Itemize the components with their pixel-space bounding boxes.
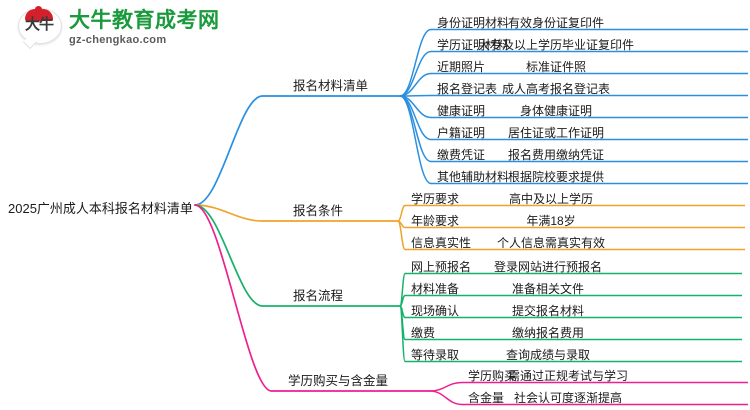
mindmap-leaf-row[interactable]: 缴费凭证报名费用缴纳凭证 (437, 146, 485, 163)
mindmap-leaf-row[interactable]: 报名登记表成人高考报名登记表 (437, 80, 497, 97)
mindmap-branch-node-4[interactable]: 学历购买与含金量 (288, 370, 388, 389)
mindmap-leaf-detail: 大专及以上学历毕业证复印件 (478, 36, 634, 53)
mindmap-leaf-label: 学历要求 (411, 190, 459, 207)
mindmap-leaf-detail: 缴纳报名费用 (512, 324, 584, 341)
mindmap-leaf-detail: 有效身份证复印件 (508, 14, 604, 31)
mindmap-leaf-detail: 居住证或工作证明 (508, 124, 604, 141)
mindmap-leaf-label: 其他辅助材料 (437, 168, 509, 185)
mindmap-leaf-detail: 查询成绩与录取 (506, 346, 590, 363)
mindmap-leaf-row[interactable]: 网上预报名登录网站进行预报名 (411, 258, 471, 275)
mindmap-leaf-detail: 高中及以上学历 (509, 190, 593, 207)
mindmap-leaf-row[interactable]: 其他辅助材料根据院校要求提供 (437, 168, 509, 185)
mindmap-leaf-row[interactable]: 学历要求高中及以上学历 (411, 190, 459, 207)
mindmap-root-node[interactable]: 2025广州成人本科报名材料清单 (8, 198, 193, 217)
mindmap-leaf-detail: 根据院校要求提供 (508, 168, 604, 185)
mindmap-leaf-row[interactable]: 学历购买需通过正规考试与学习 (468, 367, 516, 384)
mindmap-leaf-detail: 成人高考报名登记表 (502, 80, 610, 97)
mindmap-leaf-detail: 提交报名材料 (512, 302, 584, 319)
mindmap-canvas: 大牛 大牛教育成考网 gz-chengkao.com 2025广州成人本科报名材… (0, 0, 750, 410)
mindmap-leaf-label: 年龄要求 (411, 212, 459, 229)
mindmap-leaf-label: 缴费 (411, 324, 435, 341)
mindmap-branch-node-1[interactable]: 报名材料清单 (293, 75, 368, 94)
logo-bubble-icon: 大牛 (18, 8, 62, 48)
mindmap-leaf-detail: 准备相关文件 (512, 280, 584, 297)
mindmap-leaf-label: 现场确认 (411, 302, 459, 319)
mindmap-leaf-label: 材料准备 (411, 280, 459, 297)
mindmap-leaf-label: 缴费凭证 (437, 146, 485, 163)
mindmap-leaf-detail: 身体健康证明 (520, 102, 592, 119)
mindmap-leaf-row[interactable]: 近期照片标准证件照 (437, 58, 485, 75)
mindmap-leaf-row[interactable]: 现场确认提交报名材料 (411, 302, 459, 319)
mindmap-leaf-row[interactable]: 信息真实性个人信息需真实有效 (411, 234, 471, 251)
mindmap-leaf-label: 户籍证明 (437, 124, 485, 141)
logo-wordmark: 大牛教育成考网 gz-chengkao.com (69, 10, 220, 46)
mindmap-leaf-detail: 社会认可度逐渐提高 (514, 389, 622, 406)
mindmap-leaf-label: 含金量 (468, 389, 504, 406)
mindmap-leaf-label: 等待录取 (411, 346, 459, 363)
mindmap-leaf-row[interactable]: 学历证明材料大专及以上学历毕业证复印件 (437, 36, 509, 53)
mindmap-leaf-row[interactable]: 户籍证明居住证或工作证明 (437, 124, 485, 141)
mindmap-leaf-detail: 登录网站进行预报名 (494, 258, 602, 275)
mindmap-leaf-detail: 需通过正规考试与学习 (508, 367, 628, 384)
mindmap-leaf-row[interactable]: 等待录取查询成绩与录取 (411, 346, 459, 363)
mindmap-leaf-detail: 标准证件照 (526, 58, 586, 75)
mindmap-branch-node-2[interactable]: 报名条件 (293, 200, 343, 219)
logo-name-en: gz-chengkao.com (69, 35, 220, 46)
mindmap-leaf-detail: 年满18岁 (526, 212, 575, 229)
mindmap-leaf-label: 网上预报名 (411, 258, 471, 275)
mindmap-leaf-label: 报名登记表 (437, 80, 497, 97)
mindmap-leaf-label: 近期照片 (437, 58, 485, 75)
mindmap-leaf-row[interactable]: 年龄要求年满18岁 (411, 212, 459, 229)
logo-mark-text: 大牛 (18, 17, 60, 32)
mindmap-leaf-label: 身份证明材料 (437, 14, 509, 31)
mindmap-branch-node-3[interactable]: 报名流程 (293, 285, 343, 304)
mindmap-leaf-row[interactable]: 健康证明身体健康证明 (437, 102, 485, 119)
mindmap-leaf-label: 信息真实性 (411, 234, 471, 251)
mindmap-leaf-row[interactable]: 身份证明材料有效身份证复印件 (437, 14, 509, 31)
site-logo: 大牛 大牛教育成考网 gz-chengkao.com (18, 8, 220, 48)
mindmap-leaf-detail: 个人信息需真实有效 (497, 234, 605, 251)
mindmap-leaf-row[interactable]: 含金量社会认可度逐渐提高 (468, 389, 504, 406)
mindmap-leaf-detail: 报名费用缴纳凭证 (508, 146, 604, 163)
mindmap-leaf-row[interactable]: 材料准备准备相关文件 (411, 280, 459, 297)
logo-name-cn: 大牛教育成考网 (69, 10, 220, 31)
mindmap-leaf-label: 健康证明 (437, 102, 485, 119)
mindmap-leaf-row[interactable]: 缴费缴纳报名费用 (411, 324, 435, 341)
